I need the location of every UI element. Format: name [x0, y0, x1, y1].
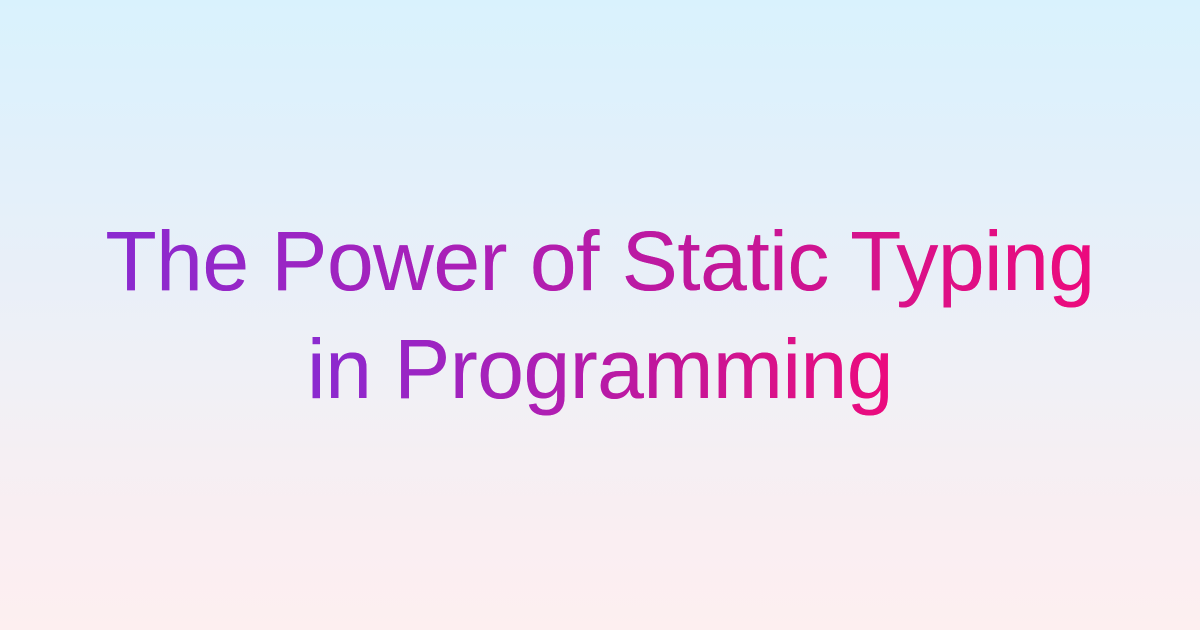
title-line-1: The Power of Static Typing [100, 207, 1100, 315]
title-line-2: in Programming [100, 315, 1100, 423]
title-line-1-text: The Power of Static Typing [105, 207, 1094, 315]
title-block: The Power of Static Typing in Programmin… [80, 207, 1120, 423]
title-line-2-text: in Programming [307, 315, 893, 423]
og-title-card: The Power of Static Typing in Programmin… [0, 0, 1200, 630]
